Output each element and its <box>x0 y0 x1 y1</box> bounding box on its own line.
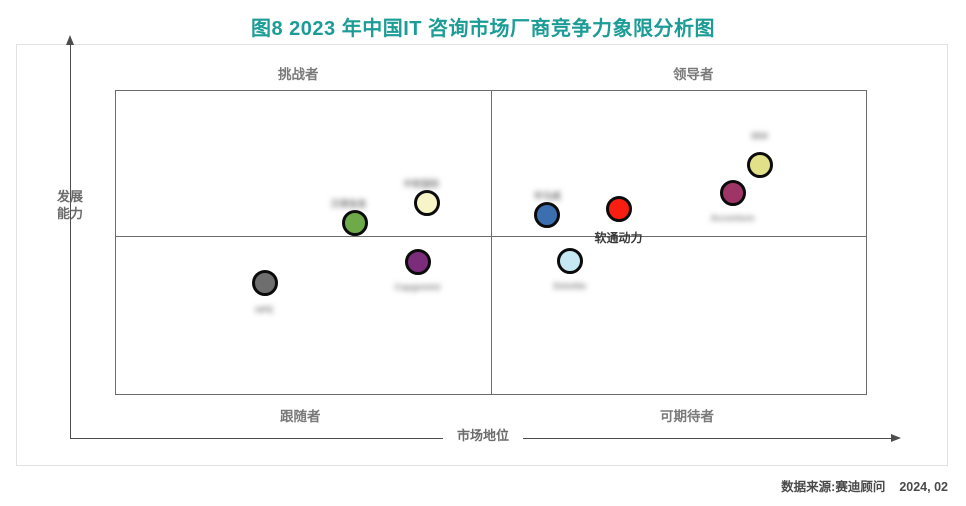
data-point-label: Deloitte <box>553 281 586 291</box>
source-date: 2024, 02 <box>899 480 948 494</box>
quadrant-label-expectable: 可期待者 <box>660 405 714 425</box>
data-point-bubble <box>720 180 746 206</box>
y-axis-label: 发展能力 <box>57 188 83 222</box>
data-point-bubble <box>405 249 431 275</box>
quadrant-label-leaders: 领导者 <box>673 63 714 83</box>
data-point-label: 中软国际 <box>403 177 439 190</box>
data-point-label: Accenture <box>710 213 754 223</box>
data-point-bubble <box>557 248 583 274</box>
data-point-label: 汉得信息 <box>330 197 366 210</box>
y-axis <box>70 44 71 439</box>
data-point-label: Capgemini <box>394 282 440 292</box>
data-point-bubble <box>747 152 773 178</box>
source-label: 数据来源:赛迪顾问 <box>781 480 885 494</box>
quadrant-vertical-divider <box>491 91 492 394</box>
quadrant-plot-area: 中软国际汉得信息毕马威软通动力IBMAccentureDeloitteCapge… <box>115 90 867 395</box>
x-axis-arrow-icon <box>891 434 901 442</box>
data-point-bubble <box>342 210 368 236</box>
data-point-bubble <box>252 270 278 296</box>
data-point-label: IBM <box>751 131 768 141</box>
data-point-label: 软通动力 <box>594 229 642 246</box>
data-point-label: HPE <box>255 305 274 315</box>
x-axis <box>70 438 892 439</box>
data-point-bubble <box>414 190 440 216</box>
source-footer: 数据来源:赛迪顾问2024, 02 <box>781 476 948 495</box>
data-point-label: 毕马威 <box>534 189 561 202</box>
quadrant-horizontal-divider <box>116 236 866 237</box>
page-title: 图8 2023 年中国IT 咨询市场厂商竞争力象限分析图 <box>0 12 966 41</box>
data-point-bubble <box>534 202 560 228</box>
quadrant-label-challengers: 挑战者 <box>278 63 319 83</box>
quadrant-label-followers: 跟随者 <box>280 405 321 425</box>
data-point-bubble <box>606 196 632 222</box>
chart-page: 图8 2023 年中国IT 咨询市场厂商竞争力象限分析图 发展能力 市场地位 挑… <box>0 0 966 506</box>
y-axis-arrow-icon <box>66 35 74 45</box>
